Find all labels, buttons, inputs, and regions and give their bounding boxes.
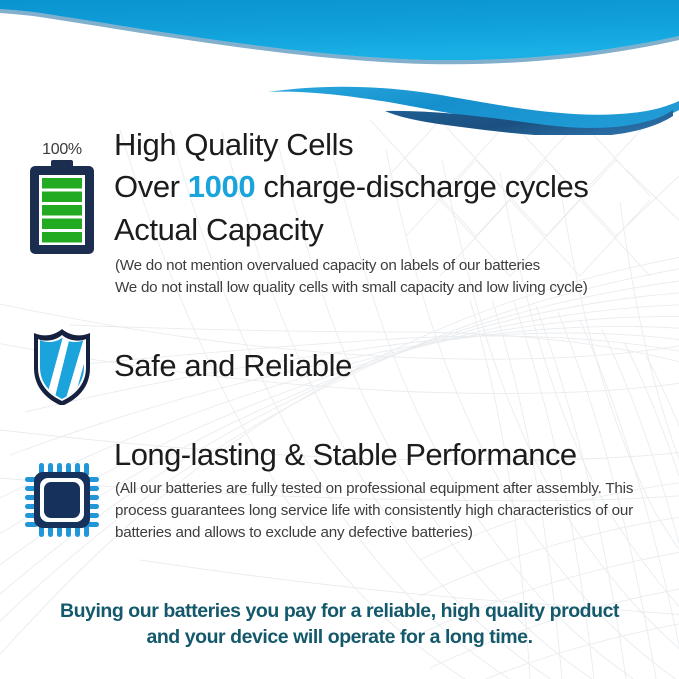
feature-long-lasting-performance: Long-lasting & Stable Performance (All o…: [14, 436, 679, 544]
long-lasting-performance-text: Long-lasting & Stable Performance (All o…: [110, 436, 679, 544]
cpu-chip-icon-group: [14, 436, 110, 538]
tagline-line-1: Buying our batteries you pay for a relia…: [0, 598, 679, 624]
battery-percent-label: 100%: [14, 142, 110, 158]
battery-icon-group: 100%: [14, 128, 110, 261]
heading-safe-and-reliable: Safe and Reliable: [114, 347, 674, 384]
battery-full-icon: [26, 160, 98, 256]
shield-icon: [30, 327, 94, 405]
high-quality-cells-subtext: (We do not mention overvalued capacity o…: [115, 255, 674, 298]
infographic-page: 100% High Quality Cells: [0, 0, 679, 679]
heading-charge-cycles-prefix: Over: [114, 169, 188, 204]
safe-and-reliable-text: Safe and Reliable: [110, 347, 674, 384]
subtext-line-2: We do not install low quality cells with…: [115, 277, 674, 299]
heading-high-quality-cells: High Quality Cells: [114, 124, 674, 166]
feature-high-quality-cells: 100% High Quality Cells: [14, 128, 674, 299]
cpu-chip-icon: [24, 462, 100, 538]
high-quality-cells-text: High Quality Cells Over 1000 charge-disc…: [110, 124, 674, 299]
subtext-line-1: (We do not mention overvalued capacity o…: [115, 255, 674, 277]
heading-charge-cycles: Over 1000 charge-discharge cycles: [114, 166, 674, 208]
heading-charge-cycles-suffix: charge-discharge cycles: [255, 169, 588, 204]
bottom-tagline: Buying our batteries you pay for a relia…: [0, 598, 679, 651]
feature-safe-and-reliable: Safe and Reliable: [14, 327, 674, 405]
shield-icon-group: [14, 327, 110, 405]
heading-actual-capacity: Actual Capacity: [114, 209, 674, 251]
tagline-line-2: and your device will operate for a long …: [0, 624, 679, 650]
heading-long-lasting-performance: Long-lasting & Stable Performance: [114, 436, 679, 475]
long-lasting-performance-subtext: (All our batteries are fully tested on p…: [115, 478, 635, 544]
heading-cycle-count: 1000: [188, 169, 255, 204]
content-layer: 100% High Quality Cells: [0, 0, 679, 679]
